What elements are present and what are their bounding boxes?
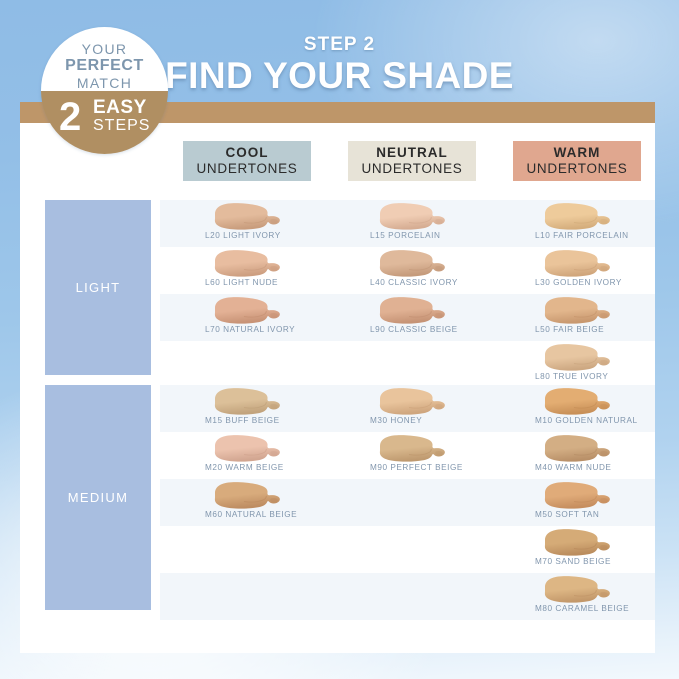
shade-cell-light-1-0[interactable]: L60 LIGHT NUDE bbox=[160, 247, 325, 294]
swatch-shape bbox=[205, 202, 289, 232]
shade-cell-medium-1-1[interactable]: M90 PERFECT BEIGE bbox=[325, 432, 490, 479]
shade-cell-medium-0-0[interactable]: M15 BUFF BEIGE bbox=[160, 385, 325, 432]
shade-name-label: L10 FAIR PORCELAIN bbox=[535, 231, 679, 240]
shade-swatch[interactable] bbox=[535, 434, 619, 464]
shade-swatch[interactable] bbox=[370, 296, 454, 326]
shade-swatch[interactable] bbox=[205, 387, 289, 417]
shade-cell-medium-4-0 bbox=[160, 573, 325, 620]
shade-cell-light-0-1[interactable]: L15 PORCELAIN bbox=[325, 200, 490, 247]
shade-swatch[interactable] bbox=[535, 481, 619, 511]
group-label-light: LIGHT bbox=[45, 200, 151, 375]
shade-cell-light-2-2[interactable]: L50 FAIR BEIGE bbox=[490, 294, 655, 341]
shade-cell-light-1-1[interactable]: L40 CLASSIC IVORY bbox=[325, 247, 490, 294]
shade-swatch[interactable] bbox=[205, 249, 289, 279]
shade-swatch[interactable] bbox=[370, 434, 454, 464]
shade-name-label: M80 CARAMEL BEIGE bbox=[535, 604, 679, 613]
shade-cell-light-3-1 bbox=[325, 341, 490, 388]
shade-cell-medium-2-1 bbox=[325, 479, 490, 526]
shade-cell-light-3-0 bbox=[160, 341, 325, 388]
shade-name-label: M70 SAND BEIGE bbox=[535, 557, 679, 566]
shade-swatch[interactable] bbox=[535, 249, 619, 279]
shade-cell-medium-1-0[interactable]: M20 WARM BEIGE bbox=[160, 432, 325, 479]
swatch-shape bbox=[205, 249, 289, 279]
swatch-shape bbox=[205, 387, 289, 417]
swatch-shape bbox=[370, 202, 454, 232]
table-row: L70 NATURAL IVORY L90 CLASSIC BEIGE L50 … bbox=[160, 294, 655, 341]
shade-name-label: M40 WARM NUDE bbox=[535, 463, 679, 472]
table-row: L20 LIGHT IVORY L15 PORCELAIN L10 FAIR P… bbox=[160, 200, 655, 247]
shade-cell-light-0-2[interactable]: L10 FAIR PORCELAIN bbox=[490, 200, 655, 247]
table-row: M70 SAND BEIGE bbox=[160, 526, 655, 573]
shade-swatch[interactable] bbox=[535, 387, 619, 417]
swatch-shape bbox=[370, 434, 454, 464]
badge-step-number: 2 bbox=[59, 97, 81, 137]
shade-swatch[interactable] bbox=[535, 202, 619, 232]
shade-cell-medium-2-0[interactable]: M60 NATURAL BEIGE bbox=[160, 479, 325, 526]
badge-line-easy: EASY bbox=[93, 98, 147, 117]
shade-swatch[interactable] bbox=[535, 296, 619, 326]
swatch-shape bbox=[205, 481, 289, 511]
swatch-shape bbox=[535, 434, 619, 464]
shade-swatch[interactable] bbox=[205, 296, 289, 326]
swatch-shape bbox=[535, 387, 619, 417]
swatch-shape bbox=[370, 387, 454, 417]
shade-cell-medium-1-2[interactable]: M40 WARM NUDE bbox=[490, 432, 655, 479]
swatch-shape bbox=[535, 575, 619, 605]
shade-cell-light-1-2[interactable]: L30 GOLDEN IVORY bbox=[490, 247, 655, 294]
shade-cell-light-3-2[interactable]: L80 TRUE IVORY bbox=[490, 341, 655, 388]
shade-cell-medium-0-1[interactable]: M30 HONEY bbox=[325, 385, 490, 432]
shade-swatch[interactable] bbox=[370, 202, 454, 232]
swatch-shape bbox=[370, 249, 454, 279]
column-header-warm-name: WARM bbox=[554, 145, 601, 161]
badge-line-your: YOUR bbox=[41, 41, 168, 57]
table-row: M15 BUFF BEIGE M30 HONEY M10 GOLDEN NATU… bbox=[160, 385, 655, 432]
swatch-shape bbox=[535, 343, 619, 373]
swatch-shape bbox=[535, 249, 619, 279]
table-row: M20 WARM BEIGE M90 PERFECT BEIGE M40 WAR… bbox=[160, 432, 655, 479]
column-header-cool-name: COOL bbox=[226, 145, 269, 161]
shade-name-label: M10 GOLDEN NATURAL bbox=[535, 416, 679, 425]
table-row: M80 CARAMEL BEIGE bbox=[160, 573, 655, 620]
shade-swatch[interactable] bbox=[535, 528, 619, 558]
shade-cell-medium-4-1 bbox=[325, 573, 490, 620]
shade-swatch[interactable] bbox=[205, 434, 289, 464]
shade-cell-medium-4-2[interactable]: M80 CARAMEL BEIGE bbox=[490, 573, 655, 620]
swatch-shape bbox=[205, 296, 289, 326]
group-label-light-text: LIGHT bbox=[76, 280, 121, 295]
swatch-shape bbox=[205, 434, 289, 464]
column-header-cool: COOL UNDERTONES bbox=[183, 141, 311, 181]
shade-cell-medium-3-1 bbox=[325, 526, 490, 573]
group-label-medium: MEDIUM bbox=[45, 385, 151, 610]
group-label-medium-text: MEDIUM bbox=[68, 490, 129, 505]
infographic-stage: STEP 2 FIND YOUR SHADE YOUR PERFECT MATC… bbox=[0, 0, 679, 679]
shade-name-label: L50 FAIR BEIGE bbox=[535, 325, 679, 334]
shade-swatch[interactable] bbox=[535, 575, 619, 605]
badge-line-perfect: PERFECT bbox=[41, 57, 168, 75]
shade-swatch[interactable] bbox=[205, 481, 289, 511]
table-row: L80 TRUE IVORY bbox=[160, 341, 655, 388]
shade-swatch[interactable] bbox=[205, 202, 289, 232]
shade-cell-medium-0-2[interactable]: M10 GOLDEN NATURAL bbox=[490, 385, 655, 432]
column-header-neutral: NEUTRAL UNDERTONES bbox=[348, 141, 476, 181]
column-header-warm-sub: UNDERTONES bbox=[526, 161, 627, 177]
table-row: L60 LIGHT NUDE L40 CLASSIC IVORY L30 GOL… bbox=[160, 247, 655, 294]
column-header-neutral-name: NEUTRAL bbox=[376, 145, 448, 161]
shade-cell-medium-3-0 bbox=[160, 526, 325, 573]
column-header-warm: WARM UNDERTONES bbox=[513, 141, 641, 181]
swatch-shape bbox=[535, 481, 619, 511]
perfect-match-badge: YOUR PERFECT MATCH 2 EASY STEPS bbox=[41, 27, 168, 154]
swatch-shape bbox=[535, 202, 619, 232]
shade-name-label: L30 GOLDEN IVORY bbox=[535, 278, 679, 287]
shade-swatch[interactable] bbox=[370, 387, 454, 417]
shade-cell-medium-2-2[interactable]: M50 SOFT TAN bbox=[490, 479, 655, 526]
column-header-cool-sub: UNDERTONES bbox=[196, 161, 297, 177]
shade-name-label: M50 SOFT TAN bbox=[535, 510, 679, 519]
shade-cell-light-2-1[interactable]: L90 CLASSIC BEIGE bbox=[325, 294, 490, 341]
shade-name-label: L80 TRUE IVORY bbox=[535, 372, 679, 381]
shade-swatch[interactable] bbox=[535, 343, 619, 373]
swatch-shape bbox=[535, 296, 619, 326]
badge-line-steps: STEPS bbox=[93, 118, 150, 134]
badge-line-match: MATCH bbox=[41, 75, 168, 91]
swatch-shape bbox=[370, 296, 454, 326]
column-header-neutral-sub: UNDERTONES bbox=[361, 161, 462, 177]
table-row: M60 NATURAL BEIGE M50 SOFT TAN bbox=[160, 479, 655, 526]
shade-cell-light-0-0[interactable]: L20 LIGHT IVORY bbox=[160, 200, 325, 247]
shade-swatch[interactable] bbox=[370, 249, 454, 279]
shade-cell-medium-3-2[interactable]: M70 SAND BEIGE bbox=[490, 526, 655, 573]
shade-cell-light-2-0[interactable]: L70 NATURAL IVORY bbox=[160, 294, 325, 341]
swatch-shape bbox=[535, 528, 619, 558]
